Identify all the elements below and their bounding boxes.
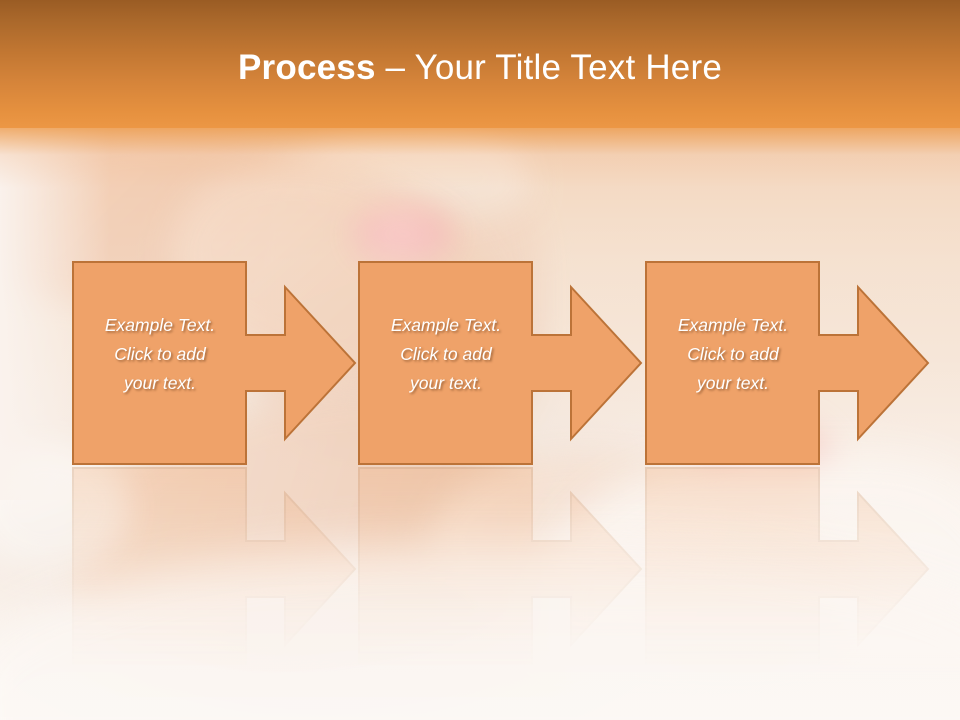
step-text[interactable]: Example Text. Click to add your text. [78,311,242,398]
step-text-line: Example Text. [651,311,815,340]
step-text[interactable]: Example Text. Click to add your text. [364,311,528,398]
step-text-line: your text. [651,369,815,398]
step-text-line: your text. [364,369,528,398]
step-text-line: Example Text. [78,311,242,340]
step-text-line: Click to add [364,340,528,369]
process-diagram: Example Text. Click to add your text. Ex… [0,0,960,720]
step-text-line: your text. [78,369,242,398]
step-text-line: Click to add [651,340,815,369]
slide: Process – Your Title Text Here Example T… [0,0,960,720]
step-text-line: Example Text. [364,311,528,340]
step-text-line: Click to add [78,340,242,369]
process-step-3[interactable]: Example Text. Click to add your text. [645,261,960,466]
step-text[interactable]: Example Text. Click to add your text. [651,311,815,398]
